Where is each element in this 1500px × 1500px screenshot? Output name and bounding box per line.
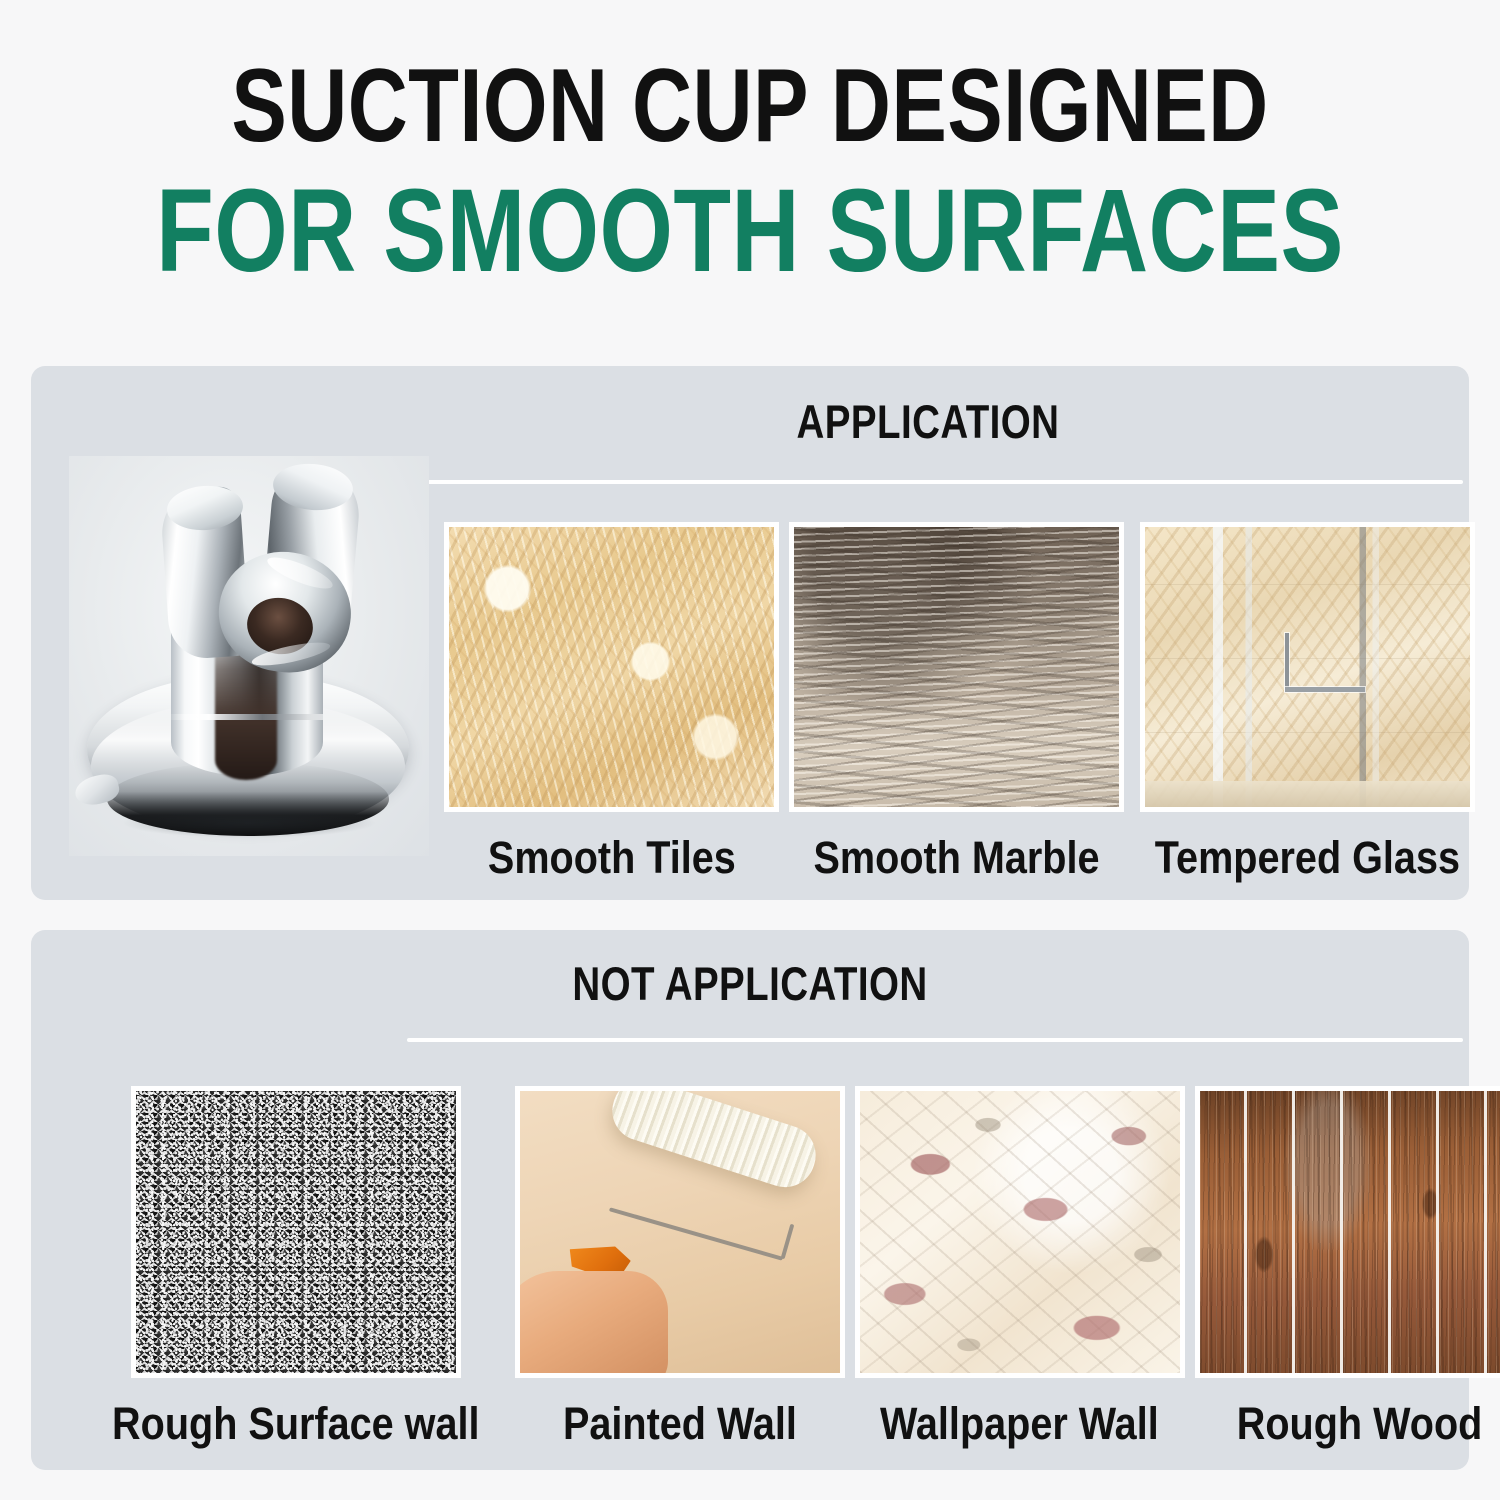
not-application-item-painted-wall: Painted Wall xyxy=(515,1086,845,1447)
product-shadow xyxy=(121,808,377,838)
wallpaper-wall-photo xyxy=(855,1086,1185,1378)
smooth-marble-caption: Smooth Marble xyxy=(813,834,1099,881)
title-line-secondary: FOR SMOOTH SURFACES xyxy=(150,172,1350,290)
not-application-item-wallpaper-wall: Wallpaper Wall xyxy=(855,1086,1185,1447)
holder-body-seam xyxy=(171,714,323,720)
application-divider xyxy=(393,480,1463,484)
not-application-panel: NOT APPLICATION Rough Surface wall Paint… xyxy=(31,930,1469,1470)
rough-surface-wall-photo xyxy=(131,1086,461,1378)
page-title: SUCTION CUP DESIGNED FOR SMOOTH SURFACES xyxy=(0,54,1500,290)
not-application-divider xyxy=(407,1038,1463,1042)
shower-door-handle-icon xyxy=(1285,633,1289,691)
title-line-primary: SUCTION CUP DESIGNED xyxy=(150,54,1350,158)
not-application-item-rough-wood: Rough Wood xyxy=(1195,1086,1500,1447)
painted-wall-caption: Painted Wall xyxy=(563,1400,797,1447)
application-item-tempered-glass: Tempered Glass xyxy=(1134,522,1481,881)
smooth-tiles-caption: Smooth Tiles xyxy=(488,834,736,881)
paint-roller-wire xyxy=(609,1207,783,1260)
not-application-heading: NOT APPLICATION xyxy=(160,956,1339,1011)
product-photo xyxy=(69,456,429,856)
not-application-thumbnail-row: Rough Surface wall Painted Wall Wallpape… xyxy=(87,1086,1500,1447)
rough-wood-caption: Rough Wood xyxy=(1237,1400,1483,1447)
paint-roller-sleeve xyxy=(605,1086,824,1195)
smooth-tiles-photo xyxy=(444,522,779,812)
wallpaper-wall-caption: Wallpaper Wall xyxy=(880,1400,1159,1447)
application-item-smooth-marble: Smooth Marble xyxy=(789,522,1124,881)
application-panel: APPLICATION Smooth Tiles Smooth Marble xyxy=(31,366,1469,900)
not-application-item-rough-surface-wall: Rough Surface wall xyxy=(87,1086,505,1447)
application-heading: APPLICATION xyxy=(489,394,1366,449)
application-item-smooth-tiles: Smooth Tiles xyxy=(444,522,779,881)
tempered-glass-photo xyxy=(1140,522,1475,812)
painted-wall-photo xyxy=(515,1086,845,1378)
rough-surface-wall-caption: Rough Surface wall xyxy=(112,1400,479,1447)
shower-floor xyxy=(1145,781,1470,807)
application-thumbnail-row: Smooth Tiles Smooth Marble Tempered Glas… xyxy=(444,522,1481,881)
painter-hand xyxy=(515,1271,669,1378)
rough-wood-photo xyxy=(1195,1086,1500,1378)
tempered-glass-caption: Tempered Glass xyxy=(1155,834,1460,881)
smooth-marble-photo xyxy=(789,522,1124,812)
